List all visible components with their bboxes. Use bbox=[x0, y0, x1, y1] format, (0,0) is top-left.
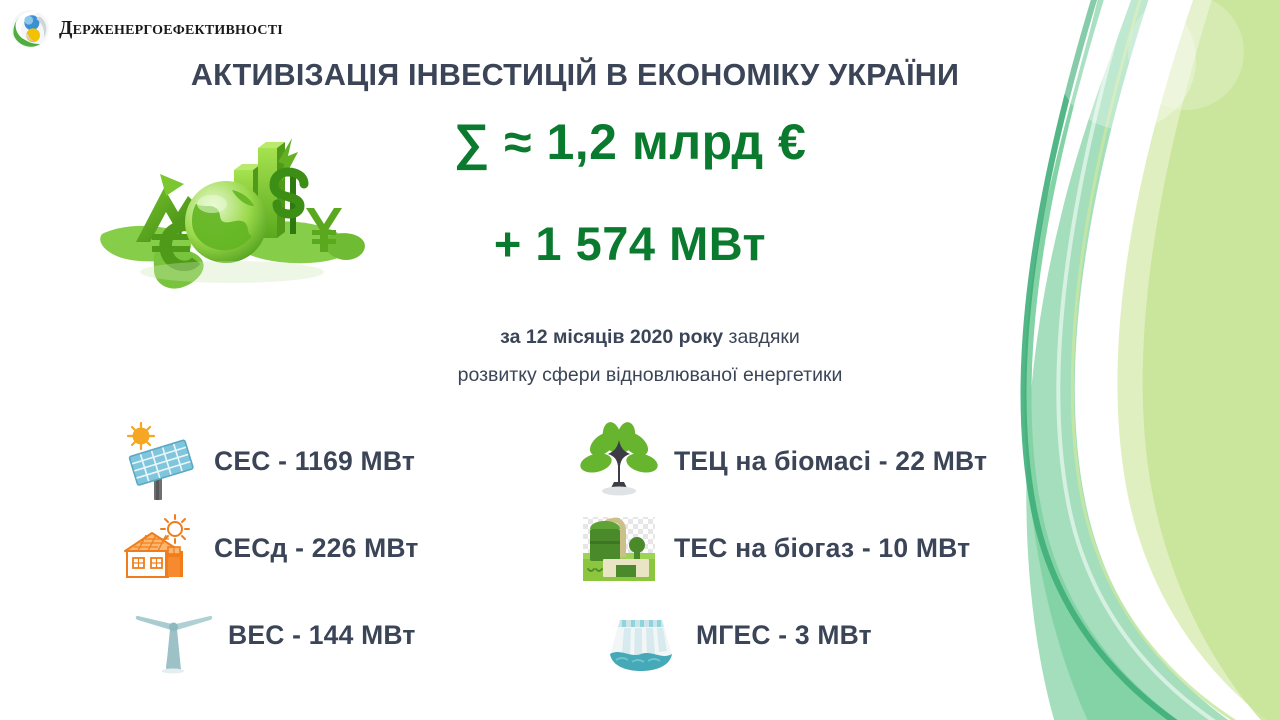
biogas-plant-icon bbox=[578, 509, 660, 589]
stat-label-sesd: СЕСд - 226 МВт bbox=[214, 533, 419, 564]
swirl-globe-logo-icon bbox=[10, 9, 50, 49]
subtitle-line-2: розвитку сфери відновлюваної енергетики bbox=[300, 364, 1000, 387]
stat-row-ses: СЕС - 1169 МВт bbox=[118, 422, 578, 502]
subtitle-line-1: за 12 місяців 2020 року завдяки bbox=[300, 326, 1000, 349]
stat-label-ves: ВЕС - 144 МВт bbox=[228, 620, 416, 651]
subtitle-period: за 12 місяців 2020 року bbox=[500, 326, 723, 348]
wind-turbine-icon bbox=[132, 596, 214, 676]
renewables-stats-grid: СЕС - 1169 МВт bbox=[118, 418, 1118, 679]
brand-logo: Держенергоефективності bbox=[10, 9, 283, 49]
biomass-tree-icon bbox=[578, 422, 660, 502]
solar-power-plant-icon bbox=[118, 422, 200, 502]
stat-label-tec-biomass: ТЕЦ на біомасі - 22 МВт bbox=[674, 446, 987, 477]
stat-label-ses: СЕС - 1169 МВт bbox=[214, 446, 415, 477]
rooftop-solar-house-icon bbox=[118, 509, 200, 589]
green-economy-growth-illustration bbox=[92, 112, 372, 297]
stat-label-tes-biogas: ТЕС на біогаз - 10 МВт bbox=[674, 533, 970, 564]
stat-row-tes-biogas: ТЕС на біогаз - 10 МВт bbox=[578, 509, 1078, 589]
capacity-figure: + 1 574 МВт bbox=[340, 216, 920, 271]
stat-row-mges: МГЕС - 3 МВт bbox=[578, 596, 1078, 676]
page-title: АКТИВІЗАЦІЯ ІНВЕСТИЦІЙ В ЕКОНОМІКУ УКРАЇ… bbox=[0, 58, 1280, 93]
brand-name: Держенергоефективності bbox=[59, 18, 283, 40]
stat-row-sesd: СЕСд - 226 МВт bbox=[118, 509, 578, 589]
slide-canvas: Держенергоефективності АКТИВІЗАЦІЯ ІНВЕС… bbox=[0, 0, 1280, 720]
subtitle-line-1-rest: завдяки bbox=[723, 326, 800, 348]
investment-figure: ∑ ≈ 1,2 млрд € bbox=[340, 113, 920, 171]
stat-row-tec-biomass: ТЕЦ на біомасі - 22 МВт bbox=[578, 422, 1078, 502]
stat-row-ves: ВЕС - 144 МВт bbox=[118, 596, 578, 676]
stat-label-mges: МГЕС - 3 МВт bbox=[696, 620, 872, 651]
small-hydro-dam-icon bbox=[600, 596, 682, 676]
